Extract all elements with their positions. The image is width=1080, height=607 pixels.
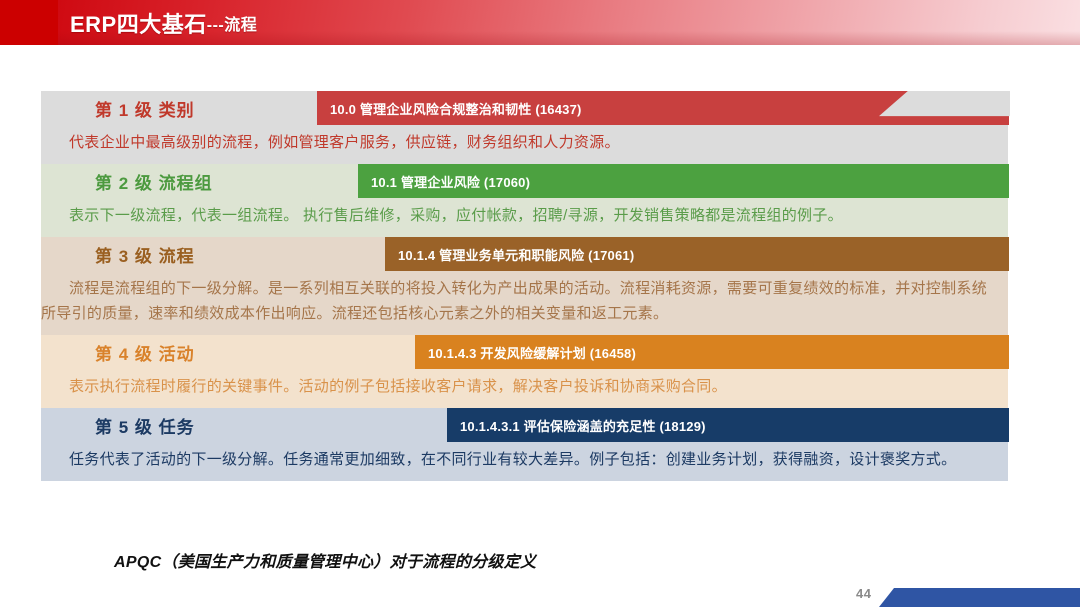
level-1-header: 第 1 级 类别 10.0 管理企业风险合规整治和韧性 (16437) — [41, 91, 1008, 125]
level-2-description: 表示下一级流程，代表一组流程。 执行售后维修，采购，应付帐款，招聘/寻源，开发销… — [41, 198, 1008, 237]
level-5-label: 第 5 级 任务 — [95, 413, 195, 438]
level-2-banner-text: 10.1 管理企业风险 (17060) — [371, 172, 530, 191]
level-1-label: 第 1 级 类别 — [95, 96, 195, 121]
level-3-description: 流程是流程组的下一级分解。是一系列相互关联的将投入转化为产出成果的活动。流程消耗… — [41, 271, 1008, 335]
level-5-banner-text: 10.1.4.3.1 评估保险涵盖的充足性 (18129) — [460, 416, 706, 435]
level-3-label: 第 3 级 流程 — [95, 242, 195, 267]
slide-caption: APQC（美国生产力和质量管理中心）对于流程的分级定义 — [114, 548, 536, 572]
page-title-sub: 流程 — [224, 17, 257, 34]
level-4-banner[interactable]: 10.1.4.3 开发风险缓解计划 (16458) — [415, 335, 1009, 369]
level-5-description: 任务代表了活动的下一级分解。任务通常更加细致，在不同行业有较大差异。例子包括：创… — [41, 442, 1008, 481]
level-4-label: 第 4 级 活动 — [95, 340, 195, 365]
page-title: ERP四大基石---流程 — [70, 7, 257, 39]
level-4-banner-text: 10.1.4.3 开发风险缓解计划 (16458) — [428, 343, 636, 362]
level-row-2: 第 2 级 流程组 10.1 管理企业风险 (17060) 表示下一级流程，代表… — [41, 164, 1008, 237]
level-row-3: 第 3 级 流程 10.1.4 管理业务单元和职能风险 (17061) 流程是流… — [41, 237, 1008, 335]
level-5-banner[interactable]: 10.1.4.3.1 评估保险涵盖的充足性 (18129) — [447, 408, 1009, 442]
level-5-header: 第 5 级 任务 10.1.4.3.1 评估保险涵盖的充足性 (18129) — [41, 408, 1008, 442]
footer-accent-bar — [879, 588, 1080, 607]
level-2-label: 第 2 级 流程组 — [95, 169, 213, 194]
apqc-level-table: 第 1 级 类别 10.0 管理企业风险合规整治和韧性 (16437) 代表企业… — [41, 91, 1008, 481]
level-1-banner-text: 10.0 管理企业风险合规整治和韧性 (16437) — [330, 99, 582, 118]
page-title-main: ERP四大基石 — [70, 12, 207, 37]
slide-title-bar: ERP四大基石---流程 — [0, 0, 1080, 45]
level-3-header: 第 3 级 流程 10.1.4 管理业务单元和职能风险 (17061) — [41, 237, 1008, 271]
title-accent-block — [0, 0, 58, 45]
level-3-banner-text: 10.1.4 管理业务单元和职能风险 (17061) — [398, 245, 634, 264]
level-1-description: 代表企业中最高级别的流程，例如管理客户服务，供应链，财务组织和人力资源。 — [41, 125, 1008, 164]
level-2-header: 第 2 级 流程组 10.1 管理企业风险 (17060) — [41, 164, 1008, 198]
level-4-description: 表示执行流程时履行的关键事件。活动的例子包括接收客户请求，解决客户投诉和协商采购… — [41, 369, 1008, 408]
level-row-1: 第 1 级 类别 10.0 管理企业风险合规整治和韧性 (16437) 代表企业… — [41, 91, 1008, 164]
page-number: 44 — [856, 586, 871, 601]
level-3-banner[interactable]: 10.1.4 管理业务单元和职能风险 (17061) — [385, 237, 1009, 271]
level-row-4: 第 4 级 活动 10.1.4.3 开发风险缓解计划 (16458) 表示执行流… — [41, 335, 1008, 408]
level-4-header: 第 4 级 活动 10.1.4.3 开发风险缓解计划 (16458) — [41, 335, 1008, 369]
level-2-banner[interactable]: 10.1 管理企业风险 (17060) — [358, 164, 1009, 198]
page-title-separator: --- — [207, 17, 224, 34]
level-row-5: 第 5 级 任务 10.1.4.3.1 评估保险涵盖的充足性 (18129) 任… — [41, 408, 1008, 481]
